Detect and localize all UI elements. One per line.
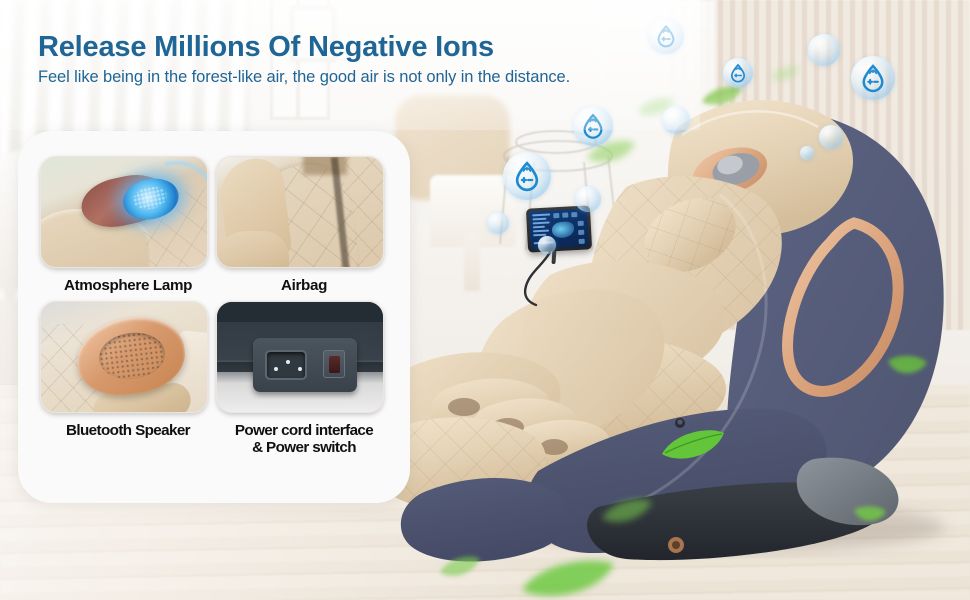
leaf-icon (770, 65, 800, 83)
page-subtitle: Feel like being in the forest-like air, … (38, 68, 570, 87)
bubble-icon (575, 186, 601, 212)
negative-ion-bubble (503, 152, 551, 200)
feature-item-bluetooth-speaker[interactable]: Bluetooth Speaker (40, 294, 216, 456)
leaf-icon (520, 556, 616, 600)
feature-item-power-cord[interactable]: Power cord interface & Power switch (216, 294, 392, 456)
massage-chair-image (430, 75, 970, 570)
page-title: Release Millions Of Negative Ions (38, 31, 494, 64)
feature-item-atmosphere-lamp[interactable]: Atmosphere Lamp (40, 156, 216, 294)
negative-ion-bubble (723, 58, 753, 88)
feature-grid: Atmosphere Lamp Airbag (40, 156, 392, 456)
airbag-thumbnail[interactable] (216, 156, 384, 268)
ion-droplet-icon (728, 63, 748, 83)
feature-label: Airbag (216, 268, 392, 294)
power-socket-icon (265, 350, 307, 380)
promo-banner: Release Millions Of Negative Ions Feel l… (0, 0, 970, 600)
bubble-icon (800, 146, 814, 160)
feature-label: Atmosphere Lamp (40, 268, 216, 294)
bubble-icon (819, 125, 843, 149)
leaf-icon (600, 496, 654, 526)
feature-card: Atmosphere Lamp Airbag (18, 131, 410, 503)
negative-ion-bubble (851, 56, 895, 100)
leaf-icon (852, 504, 888, 526)
ion-droplet-icon (511, 160, 543, 192)
bubble-icon (538, 236, 556, 254)
tablet-remote[interactable] (526, 205, 592, 252)
ion-droplet-icon (858, 63, 888, 93)
bluetooth-speaker-thumbnail[interactable] (40, 301, 208, 413)
power-cord-interface-thumbnail[interactable] (216, 301, 384, 413)
body-diagram-icon (552, 221, 575, 238)
feature-label-line2: & Power switch (216, 439, 392, 456)
header-backdrop (0, 0, 700, 130)
leaf-icon (438, 554, 482, 580)
feature-item-airbag[interactable]: Airbag (216, 156, 392, 294)
power-switch-icon[interactable] (323, 350, 345, 378)
bubble-icon (487, 212, 509, 234)
feature-label-line1: Power cord interface (216, 422, 392, 439)
leaf-icon (885, 353, 929, 379)
bubble-icon (808, 34, 840, 66)
leaf-icon (660, 426, 726, 464)
atmosphere-lamp-thumbnail[interactable] (40, 156, 208, 268)
feature-label: Bluetooth Speaker (40, 413, 216, 439)
power-panel (253, 338, 357, 392)
